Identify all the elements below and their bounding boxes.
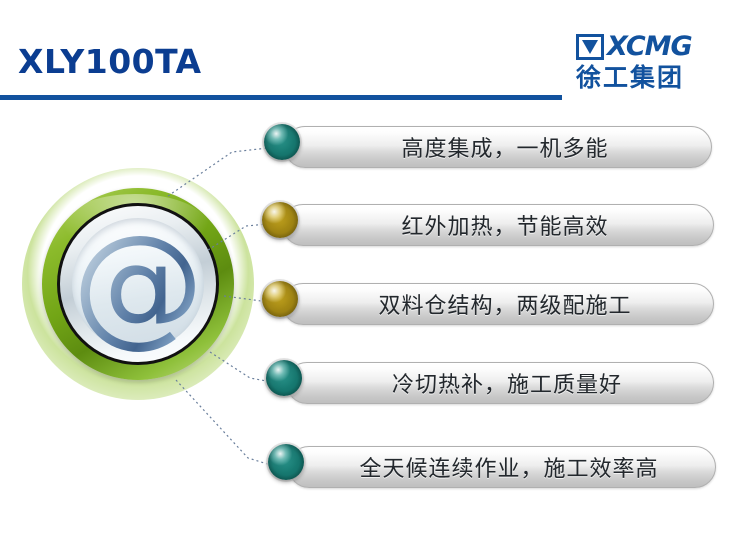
xcmg-logo: XCMG 徐工集团 bbox=[576, 32, 728, 94]
feature-pill[interactable]: 双料仓结构，两级配施工 bbox=[282, 283, 714, 325]
feature-label: 双料仓结构，两级配施工 bbox=[352, 288, 643, 320]
feature-label: 高度集成，一机多能 bbox=[375, 131, 620, 163]
feature-row[interactable]: 冷切热补，施工质量好 bbox=[266, 360, 718, 406]
feature-bullet-icon bbox=[266, 360, 302, 396]
slide-canvas: XLY100TA XCMG 徐工集团 @ 高度集成，一机多能 bbox=[0, 0, 742, 534]
xcmg-mark-icon bbox=[576, 34, 604, 60]
feature-label: 红外加热，节能高效 bbox=[375, 209, 620, 241]
feature-pill[interactable]: 红外加热，节能高效 bbox=[282, 204, 714, 246]
page-title: XLY100TA bbox=[18, 42, 202, 81]
at-symbol-emblem: @ bbox=[22, 168, 254, 400]
feature-label: 全天候连续作业，施工效率高 bbox=[333, 451, 670, 483]
feature-pill[interactable]: 全天候连续作业，施工效率高 bbox=[288, 446, 716, 488]
feature-row[interactable]: 双料仓结构，两级配施工 bbox=[262, 281, 718, 327]
feature-bullet-icon bbox=[268, 444, 304, 480]
feature-bullet-icon bbox=[262, 281, 298, 317]
logo-wordmark: XCMG bbox=[607, 33, 692, 61]
feature-row[interactable]: 高度集成，一机多能 bbox=[264, 124, 716, 170]
feature-bullet-icon bbox=[264, 124, 300, 160]
feature-pill[interactable]: 高度集成，一机多能 bbox=[284, 126, 712, 168]
feature-bullet-icon bbox=[262, 202, 298, 238]
title-divider-rule bbox=[0, 95, 562, 100]
feature-pill[interactable]: 冷切热补，施工质量好 bbox=[286, 362, 714, 404]
at-glyph-icon: @ bbox=[72, 212, 204, 356]
logo-chinese-name: 徐工集团 bbox=[576, 63, 728, 93]
logo-top-row: XCMG bbox=[576, 32, 728, 62]
feature-row[interactable]: 全天候连续作业，施工效率高 bbox=[268, 444, 720, 490]
feature-label: 冷切热补，施工质量好 bbox=[366, 367, 634, 399]
feature-row[interactable]: 红外加热，节能高效 bbox=[262, 202, 718, 248]
